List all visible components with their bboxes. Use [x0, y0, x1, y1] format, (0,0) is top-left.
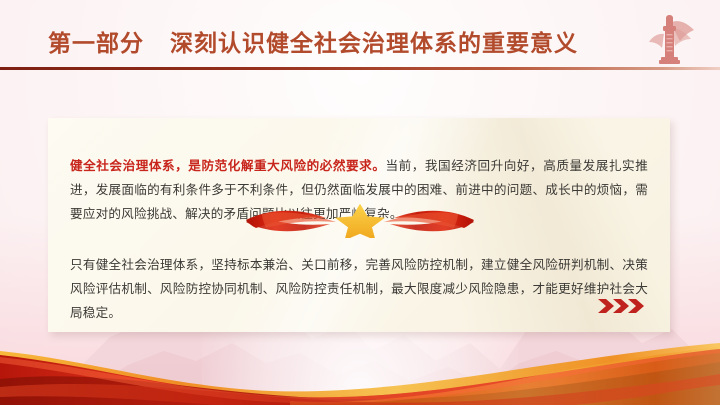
slide-root: 第一部分 深刻认识健全社会治理体系的重要意义	[0, 0, 720, 405]
header-divider-rule	[0, 67, 720, 70]
page-title: 第一部分 深刻认识健全社会治理体系的重要意义	[48, 24, 578, 58]
slide-header: 第一部分 深刻认识健全社会治理体系的重要意义	[0, 0, 720, 70]
paragraph-one-lead: 健全社会治理体系，是防范化解重大风险的必然要求。	[70, 159, 385, 173]
section-title: 深刻认识健全社会治理体系的重要意义	[170, 24, 578, 58]
section-label: 第一部分	[48, 24, 144, 58]
red-ribbon-star-divider	[244, 204, 476, 238]
paragraph-two: 只有健全社会治理体系，坚持标本兼治、关口前移，完善风险防控机制，建立健全风险研判…	[70, 253, 648, 325]
content-card: 健全社会治理体系，是防范化解重大风险的必然要求。当前，我国经济回升向好，高质量发…	[48, 118, 670, 332]
monument-emblem-icon	[642, 8, 698, 66]
triple-chevron-right-icon	[598, 298, 648, 314]
red-wave-ribbon-footer	[0, 325, 720, 405]
